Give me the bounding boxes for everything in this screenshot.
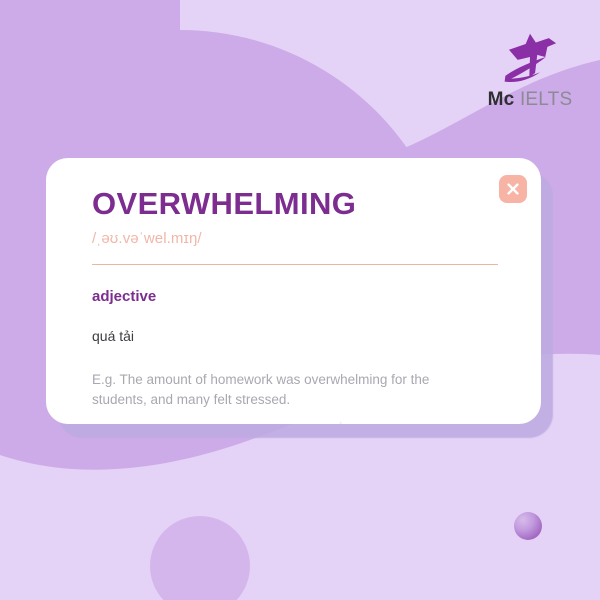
brand-name-bold: Mc [488, 89, 515, 110]
close-icon [506, 182, 520, 196]
brand-name-light: IELTS [520, 89, 572, 110]
word-title: OVERWHELMING [92, 158, 498, 221]
word-translation: quá tải [92, 305, 498, 344]
brand-name: Mc IELTS [480, 90, 580, 109]
part-of-speech: adjective [92, 265, 498, 305]
close-button[interactable] [499, 175, 527, 203]
card-content: OVERWHELMING /ˌəʊ.vəˈwel.mɪŋ/ adjective … [92, 158, 498, 411]
hummingbird-icon [493, 28, 567, 86]
brand-logo: Mc IELTS [480, 28, 580, 116]
poster-canvas: Mc IELTS OVERWHELMING /ˌəʊ.vəˈwel.mɪŋ/ a… [0, 0, 600, 600]
word-pronunciation: /ˌəʊ.vəˈwel.mɪŋ/ [92, 221, 498, 247]
decorative-sphere [514, 512, 542, 540]
example-sentence: E.g. The amount of homework was overwhel… [92, 344, 477, 412]
